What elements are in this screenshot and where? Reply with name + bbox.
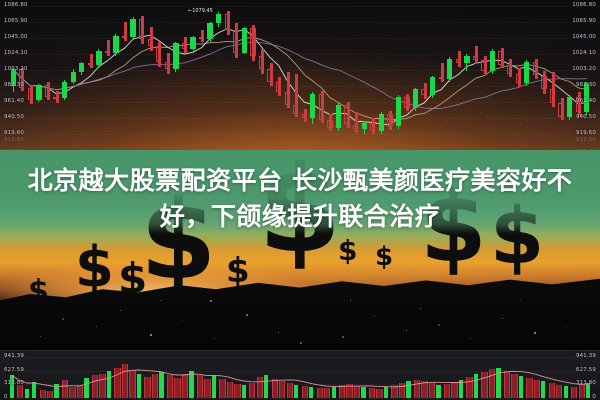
candle-body [293, 105, 298, 114]
price-axis-tick: 1086.80 [572, 3, 596, 8]
price-chart-panel: 1086.801065.901045.001024.101003.20982.3… [0, 0, 600, 150]
sparkle-dot [150, 334, 152, 336]
candle-body [148, 39, 153, 47]
candle-body [362, 123, 367, 129]
dollar-sign-5: $ [226, 256, 250, 287]
sparkle-dot [350, 300, 351, 301]
candle-body [182, 43, 187, 49]
candle-body [122, 36, 127, 38]
candle-wick [201, 30, 204, 43]
candle-body [498, 51, 503, 65]
volume-ma-line [12, 370, 589, 387]
price-axis-tick: 1024.10 [572, 51, 596, 56]
price-axis-tick: 961.40 [576, 99, 596, 104]
candle-body [71, 72, 76, 81]
candle-body [456, 59, 461, 64]
candle-body [344, 105, 349, 125]
sparkle-dot [406, 330, 407, 331]
price-axis-tick: 940.50 [4, 115, 24, 120]
candle-body [130, 19, 135, 37]
price-axis-tick: 1065.90 [572, 19, 596, 24]
sparkle-dot [342, 336, 344, 338]
sparkle-dot [310, 322, 311, 323]
price-axis-tick: 961.40 [4, 99, 24, 104]
candle-body [259, 56, 264, 70]
sparkle-dot [210, 300, 212, 302]
candle-wick [441, 63, 444, 82]
price-axis-tick: 1003.20 [572, 67, 596, 72]
candle-body [267, 69, 272, 81]
candle-body [550, 89, 555, 103]
volume-axis-tick: 0 [4, 395, 8, 400]
sparkle-dot [160, 300, 161, 301]
candle-body [327, 120, 332, 128]
candle-body [242, 28, 247, 52]
price-axis-tick-faded: 919.60 [4, 138, 24, 143]
candle-body [233, 30, 238, 53]
sparkle-dot [62, 318, 64, 320]
candle-body [370, 123, 375, 131]
sparkle-dot [278, 332, 279, 333]
candle-body [464, 56, 469, 64]
dollar-sign-7: $ [338, 238, 357, 264]
candle-body [524, 62, 529, 83]
sparkle-dot [96, 326, 97, 327]
volume-axis-tick: 0 [592, 395, 596, 400]
candle-body [516, 74, 521, 83]
article-headline: 北京越大股票配资平台 长沙甄美颜医疗美容好不好，下颌缘提升联合治疗 [0, 163, 600, 234]
candle-body [379, 114, 384, 131]
sparkle-dot [246, 314, 248, 316]
candle-body [45, 85, 50, 96]
candle-wick [107, 40, 110, 56]
candle-body [276, 82, 281, 93]
sparkle-dot [374, 316, 375, 317]
candle-body [387, 114, 392, 126]
volume-axis-tick: 627.59 [4, 368, 24, 373]
dollar-sign-2: $ [75, 242, 114, 294]
candle-body [28, 88, 33, 100]
price-axis-tick: 1065.90 [4, 19, 28, 24]
candle-body [558, 103, 563, 117]
candle-wick [124, 22, 127, 41]
candle-body [439, 77, 444, 79]
price-axis-tick: 1045.00 [572, 35, 596, 40]
candle-body [285, 92, 290, 104]
candle-body [447, 59, 452, 79]
candle-body [567, 97, 572, 117]
candle-body [165, 62, 170, 70]
price-axis-tick: 982.30 [4, 83, 24, 88]
candle-body [481, 60, 486, 71]
volume-axis-tick: 313.80 [576, 381, 596, 386]
candle-body [336, 105, 341, 128]
sparkle-dot [420, 308, 421, 309]
candle-body [319, 94, 324, 120]
candle-body [473, 56, 478, 61]
sparkle-dot [214, 338, 215, 339]
sparkle-dot [182, 320, 183, 321]
price-axis-tick-faded: 919.60 [576, 138, 596, 143]
candle-wick [355, 112, 358, 132]
candle-body [430, 77, 435, 95]
candle-body [396, 97, 401, 126]
sparkle-dot [438, 324, 440, 326]
candle-body [507, 65, 512, 74]
price-axis-tick: 982.30 [576, 83, 596, 88]
candle-body [490, 51, 495, 71]
candle-body [173, 43, 178, 69]
sparkle-dot [520, 300, 521, 301]
price-axis-tick: 1003.20 [4, 67, 28, 72]
candle-body [421, 89, 426, 95]
dollar-sign-8: $ [375, 246, 393, 270]
volume-axis-tick: 313.80 [4, 381, 24, 386]
candle-body [190, 37, 195, 49]
sparkle-dot [566, 326, 567, 327]
candle-body [156, 46, 161, 61]
volume-axis-tick: 941.39 [576, 354, 596, 359]
candle-body [139, 19, 144, 39]
price-axis-tick: 919.60 [4, 131, 24, 136]
candle-body [413, 89, 418, 107]
candle-body [353, 125, 358, 130]
price-axis-tick: 1024.10 [4, 51, 28, 56]
sparkle-dot [120, 310, 121, 311]
price-axis-tick: 919.60 [576, 131, 596, 136]
candle-body [96, 51, 101, 65]
price-axis-tick: 1086.80 [4, 3, 28, 8]
sparkle-dot [300, 342, 302, 344]
candle-body [36, 85, 41, 100]
candle-body [541, 76, 546, 90]
candle-body [302, 114, 307, 119]
candle-body [113, 36, 118, 53]
sparkle-dot [502, 318, 503, 319]
price-ma-line-MA-white [13, 29, 586, 125]
volume-chart-panel: 941.39627.59313.800 941.39627.59313.800 [0, 350, 600, 400]
volume-axis-tick: 941.39 [4, 354, 24, 359]
price-axis-tick: 940.50 [576, 115, 596, 120]
candle-body [62, 82, 67, 99]
sparkle-dot [470, 338, 471, 339]
candle-body [404, 97, 409, 108]
article-banner: 1086.801065.901045.001024.101003.20982.3… [0, 0, 600, 400]
candle-body [105, 51, 110, 53]
candle-wick [90, 54, 93, 68]
volume-axis-tick: 627.59 [576, 368, 596, 373]
candle-body [199, 37, 204, 39]
sparkle-dot [534, 332, 536, 334]
candle-body [216, 14, 221, 23]
sparkle-dot [40, 336, 41, 337]
candle-body [250, 28, 255, 56]
price-axis-tick: 1045.00 [4, 35, 28, 40]
candle-body [207, 23, 212, 38]
candle-body [533, 62, 538, 76]
candle-body [53, 97, 58, 99]
candle-body [88, 63, 93, 65]
candle-body [79, 63, 84, 72]
price-peak-annotation: ←1079.45 [188, 9, 213, 14]
candle-body [225, 14, 230, 29]
candle-body [310, 94, 315, 118]
volume-moving-average-line [0, 351, 600, 400]
